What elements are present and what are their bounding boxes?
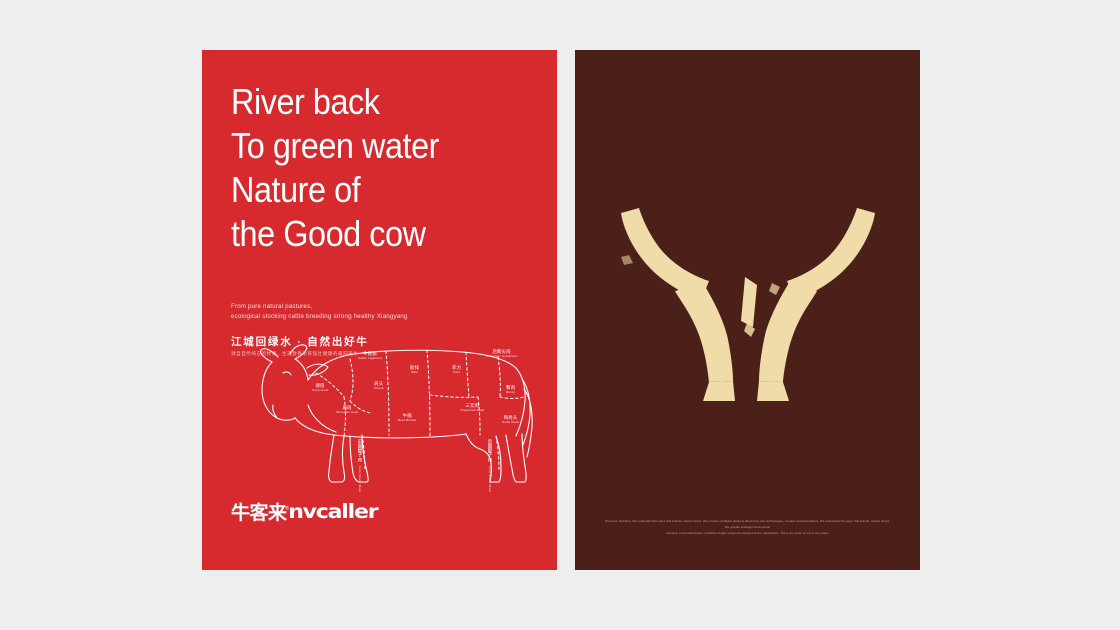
brown-poster-footnote: We know, branding. We understand the way… — [603, 518, 892, 536]
brand-logo-chinese: 牛客来 — [231, 498, 287, 525]
footnote-line-2: services, in the latest latest consultiv… — [603, 530, 892, 536]
bull-head-icon — [617, 205, 879, 410]
subtitle-line-2: ecological stocking cattle breeding stro… — [231, 312, 531, 322]
brand-logo-latin: nvcaller — [288, 502, 377, 524]
red-poster: River back To green water Nature of the … — [202, 50, 557, 570]
headline-line-2: To green water — [231, 124, 510, 168]
poster-headline: River back To green water Nature of the … — [231, 80, 510, 256]
brown-poster: We know, branding. We understand the way… — [575, 50, 920, 570]
subtitle-line-1: From pure natural pastures, — [231, 302, 531, 312]
poster-subtitle-english: From pure natural pastures, ecological s… — [231, 302, 531, 322]
cow-outline-icon — [250, 335, 540, 485]
footnote-line-1: We know, branding. We understand the way… — [603, 518, 892, 530]
headline-line-1: River back — [231, 80, 510, 124]
headline-line-4: the Good cow — [231, 212, 510, 256]
beef-cuts-diagram: 牛板筋 Cattle Ligament 肩头 Chuck 肋排 Ribs 菲力 … — [250, 335, 540, 485]
headline-line-3: Nature of — [231, 168, 510, 212]
brand-logo: 牛客来 ® nvcaller — [231, 498, 377, 525]
poster-canvas: River back To green water Nature of the … — [0, 0, 1120, 630]
